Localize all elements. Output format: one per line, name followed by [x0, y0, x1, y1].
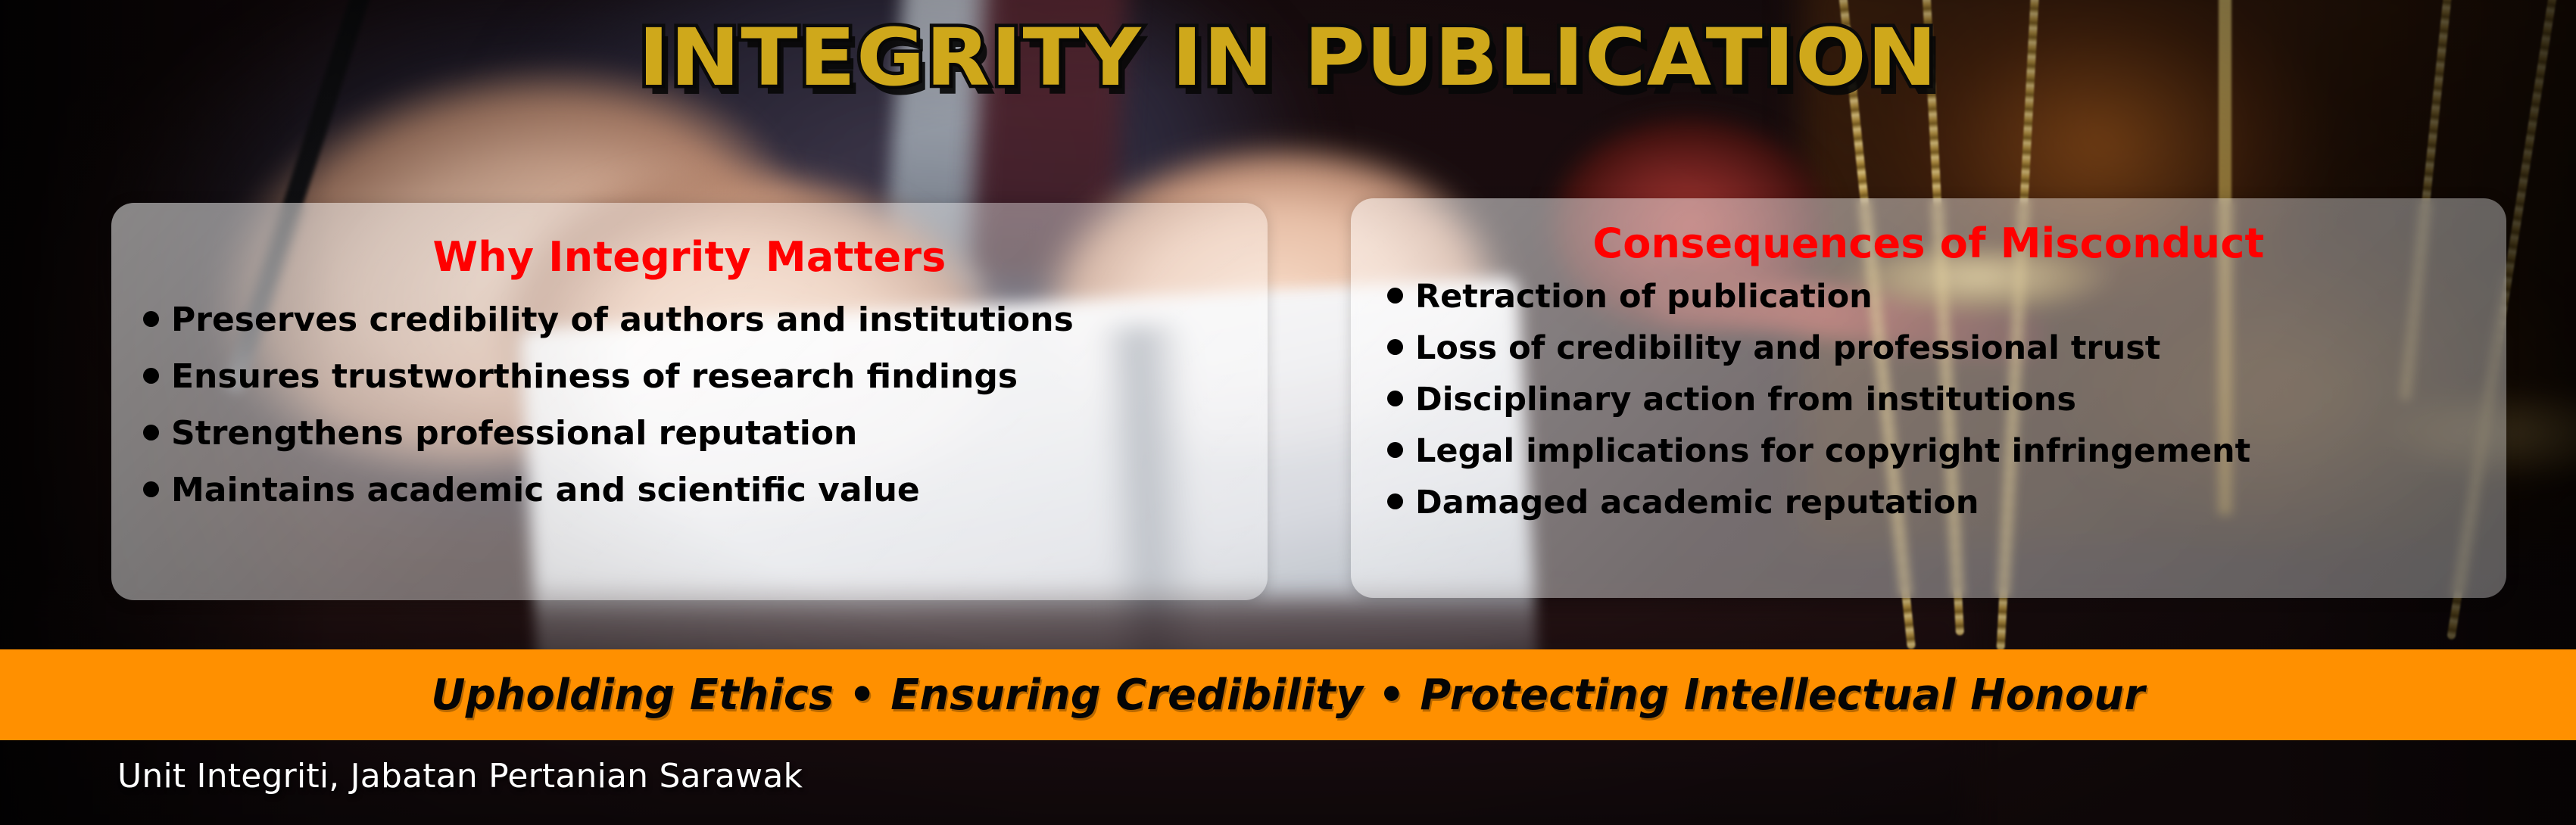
list-item-label: Damaged academic reputation [1415, 487, 1979, 519]
list-item-label: Maintains academic and scientific value [171, 474, 920, 507]
list-item: Retraction of publication [1387, 281, 2506, 313]
integrity-in-publication-banner: INTEGRITY IN PUBLICATION Why Integrity M… [0, 0, 2576, 825]
list-item-label: Strengthens professional reputation [171, 417, 857, 450]
tagline-strip: Upholding Ethics • Ensuring Credibility … [0, 649, 2576, 740]
list-item-label: Disciplinary action from institutions [1415, 384, 2076, 416]
bullet-dot-icon [1387, 442, 1403, 458]
card-right-bullet-list: Retraction of publication Loss of credib… [1387, 281, 2506, 519]
bullet-dot-icon [143, 425, 159, 441]
list-item: Legal implications for copyright infring… [1387, 435, 2506, 468]
list-item: Ensures trustworthiness of research find… [143, 360, 1268, 394]
list-item-label: Loss of credibility and professional tru… [1415, 332, 2160, 365]
list-item-label: Preserves credibility of authors and ins… [171, 304, 1074, 337]
bullet-dot-icon [1387, 288, 1403, 304]
list-item: Maintains academic and scientific value [143, 474, 1268, 507]
page-title: INTEGRITY IN PUBLICATION [0, 18, 2576, 97]
bullet-dot-icon [143, 368, 159, 384]
list-item: Strengthens professional reputation [143, 417, 1268, 450]
tagline-text: Upholding Ethics • Ensuring Credibility … [431, 671, 2144, 720]
list-item: Loss of credibility and professional tru… [1387, 332, 2506, 365]
card-left-bullet-list: Preserves credibility of authors and ins… [143, 304, 1268, 507]
list-item-label: Legal implications for copyright infring… [1415, 435, 2250, 468]
list-item: Preserves credibility of authors and ins… [143, 304, 1268, 337]
list-item: Disciplinary action from institutions [1387, 384, 2506, 416]
card-consequences-of-misconduct: Consequences of Misconduct Retraction of… [1351, 198, 2506, 598]
card-why-integrity-matters: Why Integrity Matters Preserves credibil… [111, 203, 1268, 600]
card-right-heading: Consequences of Misconduct [1351, 219, 2506, 267]
list-item-label: Ensures trustworthiness of research find… [171, 360, 1018, 394]
list-item: Damaged academic reputation [1387, 487, 2506, 519]
bullet-dot-icon [143, 481, 159, 497]
bullet-dot-icon [1387, 493, 1403, 509]
footer-attribution: Unit Integriti, Jabatan Pertanian Sarawa… [117, 757, 803, 795]
list-item-label: Retraction of publication [1415, 281, 1873, 313]
card-left-heading: Why Integrity Matters [111, 233, 1268, 281]
bullet-dot-icon [143, 311, 159, 327]
bullet-dot-icon [1387, 391, 1403, 406]
bullet-dot-icon [1387, 339, 1403, 355]
